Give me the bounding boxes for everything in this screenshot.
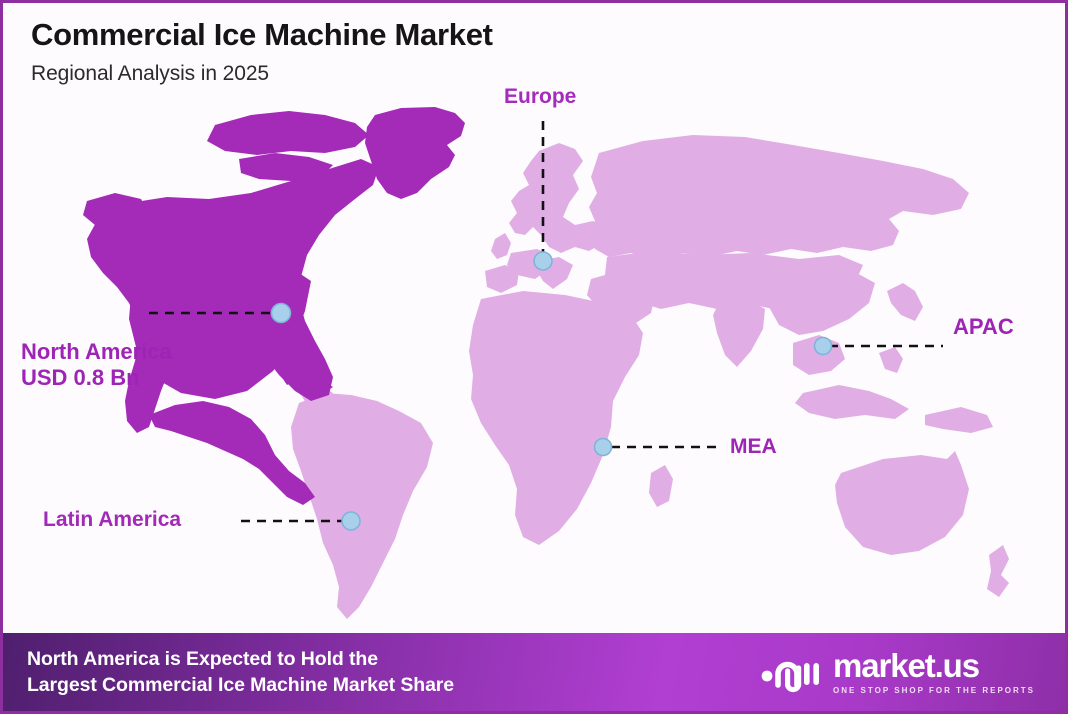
page-subtitle: Regional Analysis in 2025 — [31, 62, 493, 86]
region-label-apac-line1: APAC — [953, 314, 1014, 339]
region-label-latin-america-line1: Latin America — [43, 508, 181, 531]
region-south-america — [291, 393, 433, 619]
region-india — [713, 299, 765, 367]
brand-text: market.us ONE STOP SHOP FOR THE REPORTS — [833, 649, 1035, 695]
regional-analysis-infographic: Commercial Ice Machine Market Regional A… — [0, 0, 1068, 714]
region-label-latin-america: Latin America — [43, 508, 181, 533]
footer-headline: North America is Expected to Hold the La… — [27, 646, 454, 698]
region-africa — [469, 291, 643, 545]
region-korea-japan — [887, 283, 923, 321]
footer-headline-line1: North America is Expected to Hold the — [27, 646, 454, 672]
footer-banner: North America is Expected to Hold the La… — [3, 633, 1065, 711]
footer-headline-line2: Largest Commercial Ice Machine Market Sh… — [27, 672, 454, 698]
region-label-europe: Europe — [504, 85, 576, 110]
brand-tagline: ONE STOP SHOP FOR THE REPORTS — [833, 686, 1035, 695]
region-madagascar — [649, 465, 673, 507]
region-label-mea: MEA — [730, 435, 777, 460]
region-china-east-asia — [767, 265, 875, 335]
market-us-logo-icon — [760, 651, 822, 693]
region-indonesia — [795, 385, 909, 419]
header: Commercial Ice Machine Market Regional A… — [31, 17, 493, 86]
region-russia-north-asia — [587, 135, 969, 259]
region-label-north-america-line1: North America — [21, 339, 172, 364]
region-label-north-america-value: USD 0.8 Bn — [21, 365, 172, 391]
brand-logo[interactable]: market.us ONE STOP SHOP FOR THE REPORTS — [760, 649, 1043, 695]
region-label-apac: APAC — [953, 314, 1014, 340]
region-label-europe-line1: Europe — [504, 85, 576, 108]
region-arctic-islands-2 — [239, 153, 333, 181]
region-new-zealand — [987, 545, 1009, 597]
region-se-asia — [793, 335, 845, 375]
region-british-isles — [491, 233, 511, 259]
brand-name: market.us — [833, 649, 979, 682]
region-mexico — [149, 401, 315, 505]
region-label-north-america: North America USD 0.8 Bn — [21, 339, 172, 391]
region-greenland — [365, 107, 465, 199]
page-title: Commercial Ice Machine Market — [31, 17, 493, 53]
region-new-guinea — [925, 407, 993, 433]
region-philippines — [879, 347, 903, 373]
map-base-regions — [291, 107, 1009, 619]
region-australia — [835, 451, 969, 555]
region-canada-arctic — [207, 111, 369, 155]
region-label-mea-line1: MEA — [730, 435, 777, 458]
